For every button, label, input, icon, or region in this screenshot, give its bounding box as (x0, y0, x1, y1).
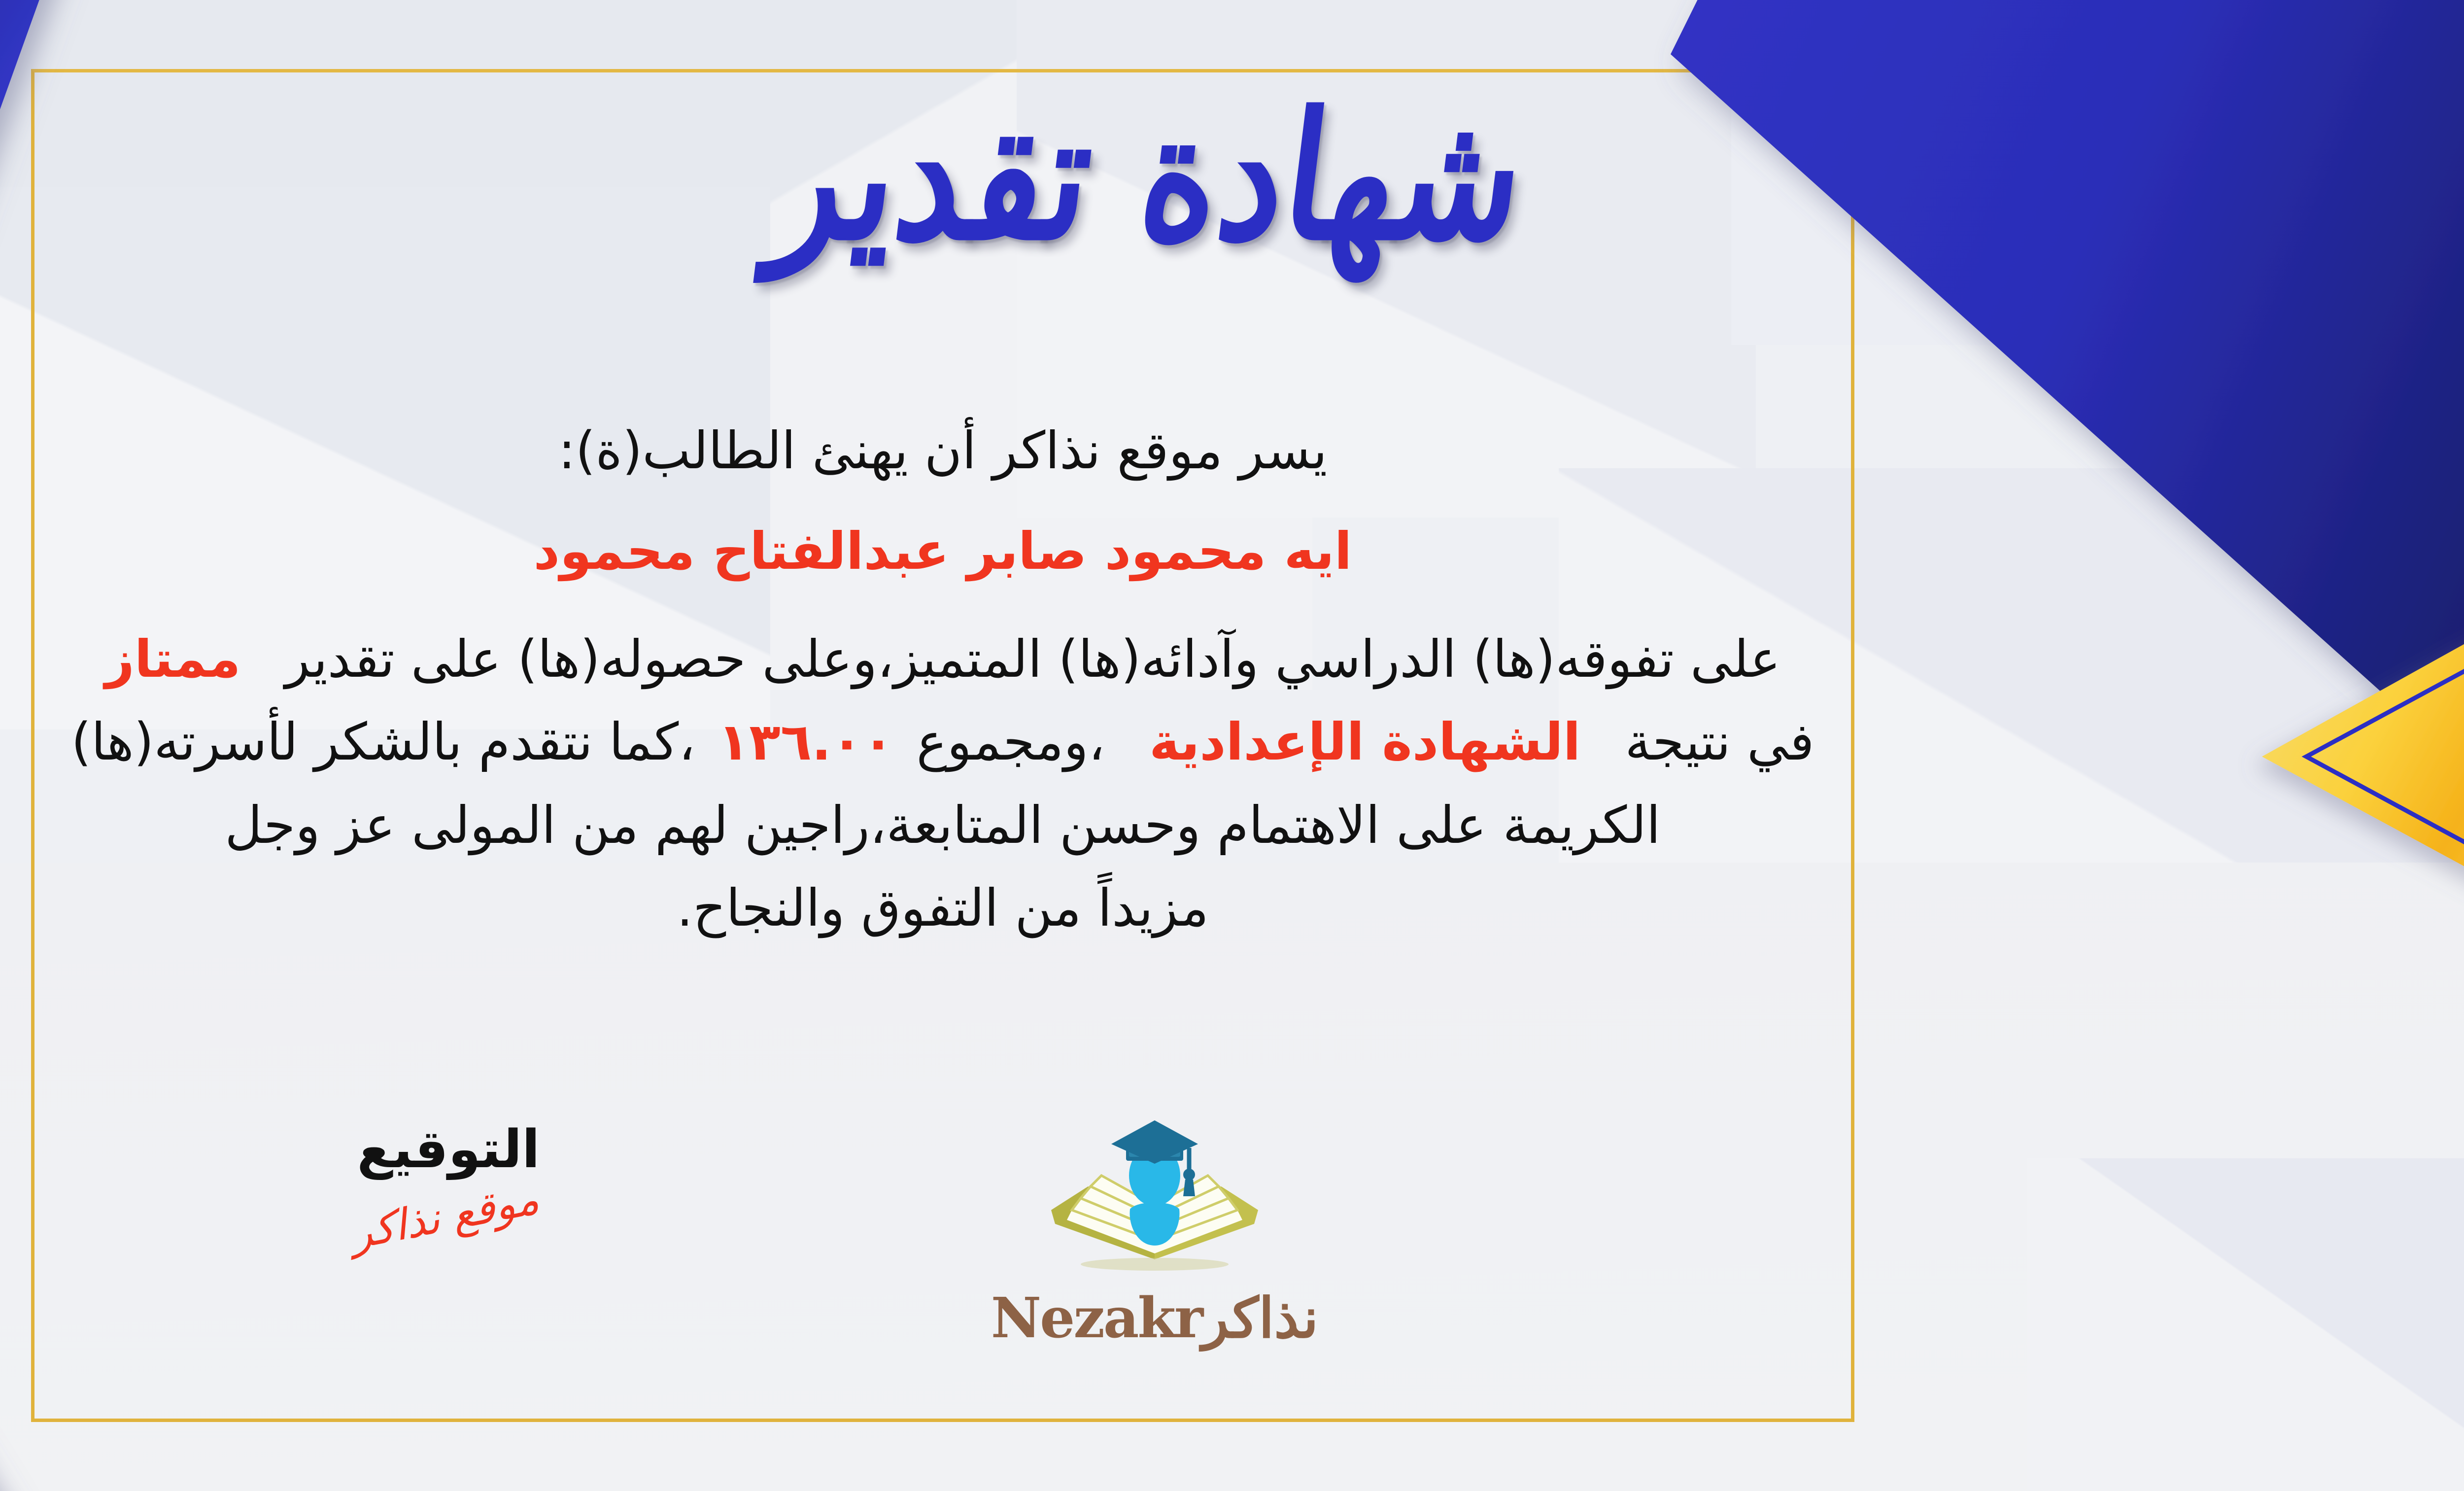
achievement-text: على تفوقه(ها) الدراسي وآدائه(ها) المتميز… (285, 629, 1780, 689)
logo-wordmark: نذاكرNezakr (958, 1286, 1352, 1351)
achievement-line: على تفوقه(ها) الدراسي وآدائه(ها) المتميز… (31, 618, 1854, 700)
certificate-page: شهادة تقدير يسر موقع نذاكر أن يهنئ الطال… (0, 0, 2464, 1491)
student-name: ايه محمود صابر عبدالفتاح محمود (31, 510, 1854, 592)
logo-text-en: Nezakr (991, 1286, 1202, 1351)
title-container: شهادة تقدير (0, 76, 2464, 276)
certificate-body: يسر موقع نذاكر أن يهنئ الطالب(ة): ايه مح… (31, 409, 1854, 950)
gold-chevron-right-edge (2119, 532, 2464, 976)
greeting-line: يسر موقع نذاكر أن يهنئ الطالب(ة): (31, 409, 1854, 492)
brand-logo: نذاكرNezakr (958, 1111, 1352, 1351)
page-title: شهادة تقدير (760, 59, 1538, 294)
thanks-prefix: ،كما نتقدم بالشكر لأسرته(ها) (71, 712, 695, 772)
exam-result-line: في نتيجةالشهادة الإعدادية،ومجموع١٣٦.٠٠،ك… (31, 700, 1854, 783)
closing-line: مزيداً من التفوق والنجاح. (31, 867, 1854, 949)
logo-text-ar: نذاكر (1202, 1286, 1318, 1351)
signature-block: التوقيع موقع نذاكر (276, 1119, 621, 1241)
background-facet (2027, 1158, 2464, 1491)
grade-value: ممتاز (105, 629, 241, 689)
exam-prefix: في نتيجة (1625, 712, 1814, 772)
total-score: ١٣٦.٠٠ (718, 712, 894, 772)
signature-label: التوقيع (276, 1119, 621, 1179)
signature-mark: موقع نذاكر (353, 1172, 544, 1259)
graduate-book-logo-icon (1041, 1111, 1268, 1289)
total-label: ،ومجموع (917, 712, 1105, 772)
thanks-line: الكريمة على الاهتمام وحسن المتابعة،راجين… (31, 784, 1854, 867)
exam-name: الشهادة الإعدادية (1149, 712, 1580, 772)
